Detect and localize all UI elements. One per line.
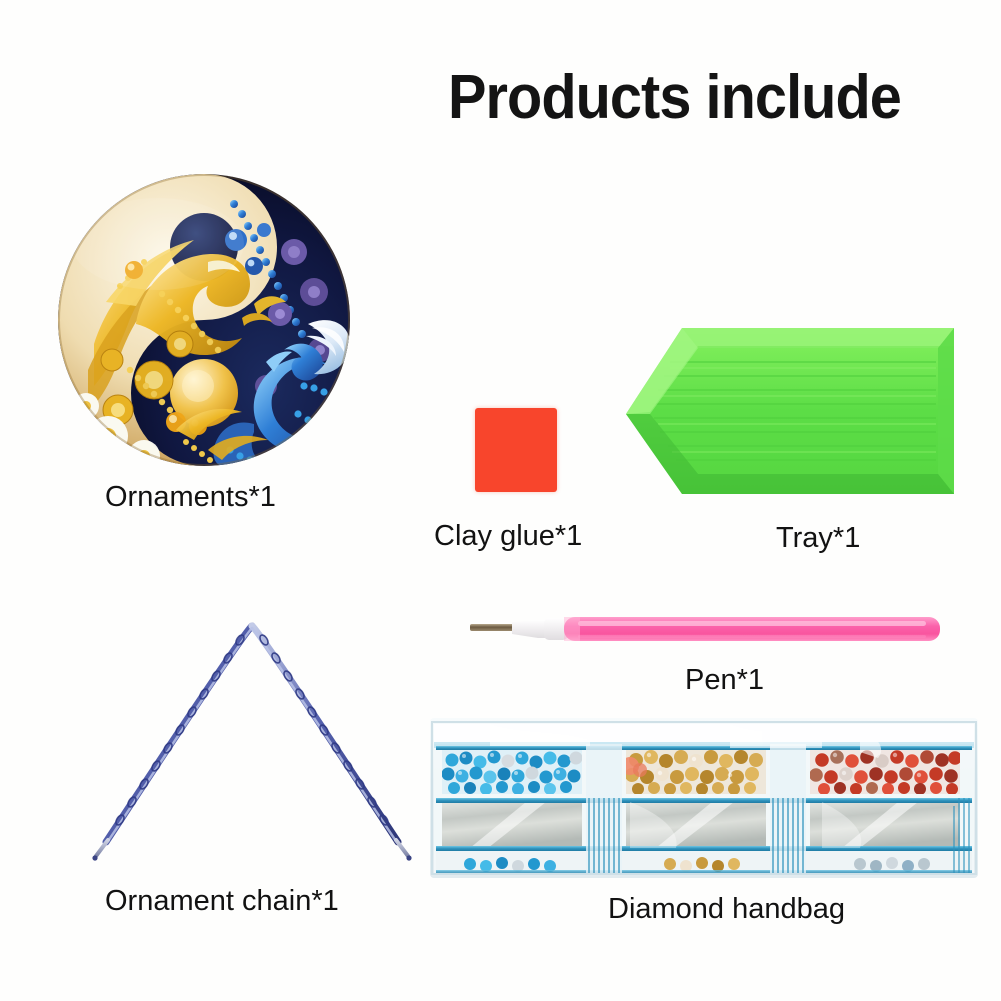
product-includes-page: Products include — [0, 0, 1001, 1001]
ornament-chain-label: Ornament chain*1 — [105, 884, 339, 918]
drill-pen-icon — [468, 608, 948, 652]
clay-glue-square-icon — [475, 408, 557, 492]
pen-label: Pen*1 — [685, 663, 764, 697]
tray-label: Tray*1 — [776, 521, 860, 555]
hanging-chain-icon — [92, 618, 412, 868]
yin-yang-ornament-icon — [58, 174, 350, 466]
ornaments-item: Ornaments*1 — [58, 174, 350, 512]
diamond-tray-icon — [624, 322, 960, 500]
rhinestone-bag-icon — [430, 718, 978, 878]
ornaments-label: Ornaments*1 — [105, 480, 276, 514]
diamond-handbag-label: Diamond handbag — [608, 892, 845, 926]
clay-glue-label: Clay glue*1 — [434, 519, 582, 553]
page-title: Products include — [448, 62, 955, 134]
